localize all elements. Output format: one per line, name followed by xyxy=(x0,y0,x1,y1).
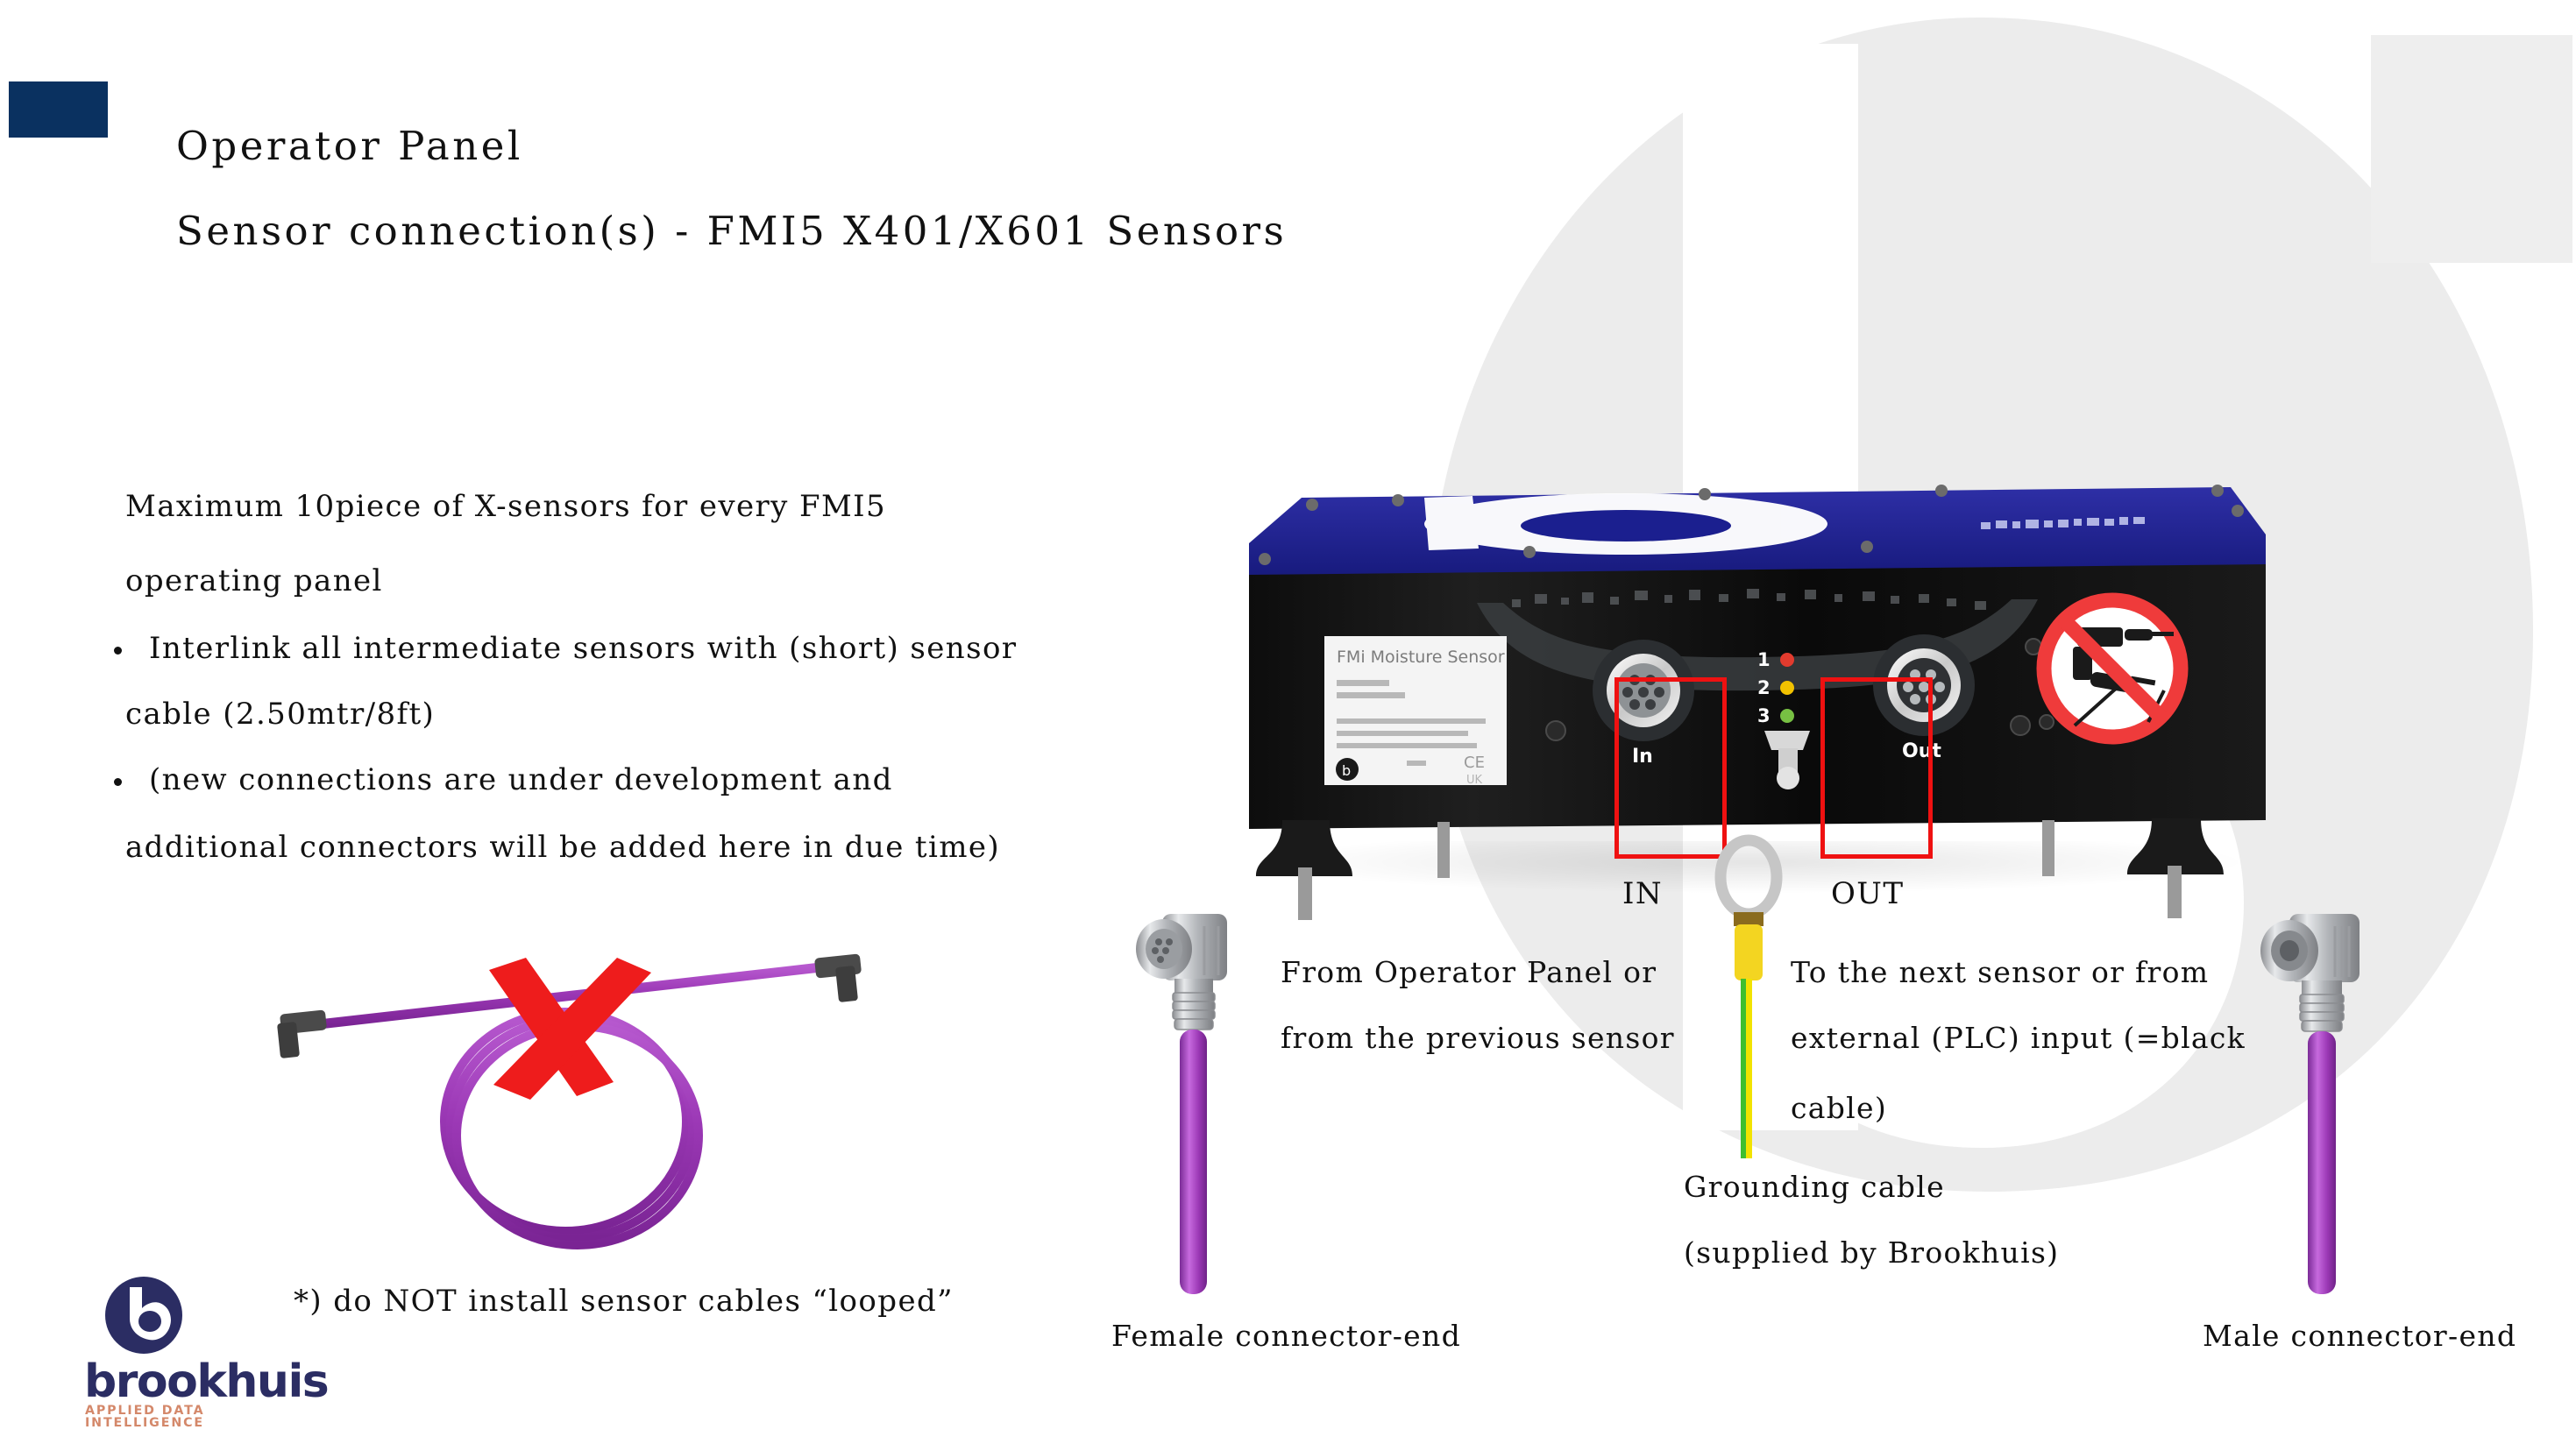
callout-out-label: OUT xyxy=(1831,876,1904,911)
cable-connector-left-icon xyxy=(277,1009,327,1058)
callout-ground-line-2: (supplied by Brookhuis) xyxy=(1684,1235,2059,1270)
male-connector-end xyxy=(2253,907,2367,1306)
looped-cable-illustration xyxy=(263,924,894,1275)
no-tools-prohibition-icon xyxy=(2044,600,2181,737)
svg-text:1: 1 xyxy=(1757,649,1771,670)
callout-right-line-3: cable) xyxy=(1791,1091,1887,1125)
brookhuis-wordmark: brookhuis xyxy=(84,1359,295,1405)
brookhuis-b-mark-icon xyxy=(84,1273,295,1357)
footnote-text: *) do NOT install sensor cables “looped” xyxy=(294,1284,954,1319)
bullet-2-line-2: additional connectors will be added here… xyxy=(125,830,1000,865)
page-subtitle: Sensor connection(s) - FMI5 X401/X601 Se… xyxy=(176,208,1287,254)
svg-text:CE: CE xyxy=(1464,754,1485,772)
svg-text:FMi Moisture Sensor: FMi Moisture Sensor xyxy=(1337,648,1505,667)
bullet-marker-1 xyxy=(114,647,122,655)
bullet-marker-2 xyxy=(114,778,122,786)
brookhuis-tagline: APPLIED DATA INTELLIGENCE xyxy=(85,1405,295,1429)
page-title: Operator Panel xyxy=(176,123,523,169)
callout-right-line-2: external (PLC) input (=black xyxy=(1791,1021,2246,1055)
callout-left-line-2: from the previous sensor xyxy=(1281,1021,1675,1055)
highlight-box-in-port xyxy=(1614,677,1727,859)
male-connector-label: Male connector-end xyxy=(2203,1319,2516,1353)
device-nameplate: FMi Moisture Sensor b CE UK xyxy=(1324,636,1507,787)
callout-right-line-1: To the next sensor or from xyxy=(1791,955,2209,989)
slide-canvas: Operator Panel Sensor connection(s) - FM… xyxy=(0,0,2576,1451)
svg-text:b: b xyxy=(1342,762,1351,779)
fmi-moisture-sensor-device: FMi Moisture Sensor b CE UK In xyxy=(1249,471,2266,883)
body-line-1: Maximum 10piece of X-sensors for every F… xyxy=(125,489,886,524)
callout-ground-line-1: Grounding cable xyxy=(1684,1170,1945,1204)
grounding-cable xyxy=(1714,837,1784,1165)
cable-connector-right-icon xyxy=(814,953,862,1002)
svg-text:UK: UK xyxy=(1466,774,1483,787)
brookhuis-logo: brookhuis APPLIED DATA INTELLIGENCE xyxy=(84,1273,295,1424)
accent-square xyxy=(9,81,108,138)
bullet-2-line-1: (new connections are under development a… xyxy=(149,762,893,797)
bullet-1-line-1: Interlink all intermediate sensors with … xyxy=(149,631,1017,666)
svg-text:3: 3 xyxy=(1757,705,1771,726)
highlight-box-out-port xyxy=(1820,677,1933,859)
female-connector-label: Female connector-end xyxy=(1111,1319,1461,1353)
female-connector-end xyxy=(1129,907,1234,1306)
bullet-1-line-2: cable (2.50mtr/8ft) xyxy=(125,697,435,732)
background-watermark-block xyxy=(2371,35,2572,263)
body-line-2: operating panel xyxy=(125,563,383,598)
callout-left-line-1: From Operator Panel or xyxy=(1281,955,1657,989)
callout-in-label: IN xyxy=(1622,876,1663,911)
svg-text:2: 2 xyxy=(1757,677,1771,698)
